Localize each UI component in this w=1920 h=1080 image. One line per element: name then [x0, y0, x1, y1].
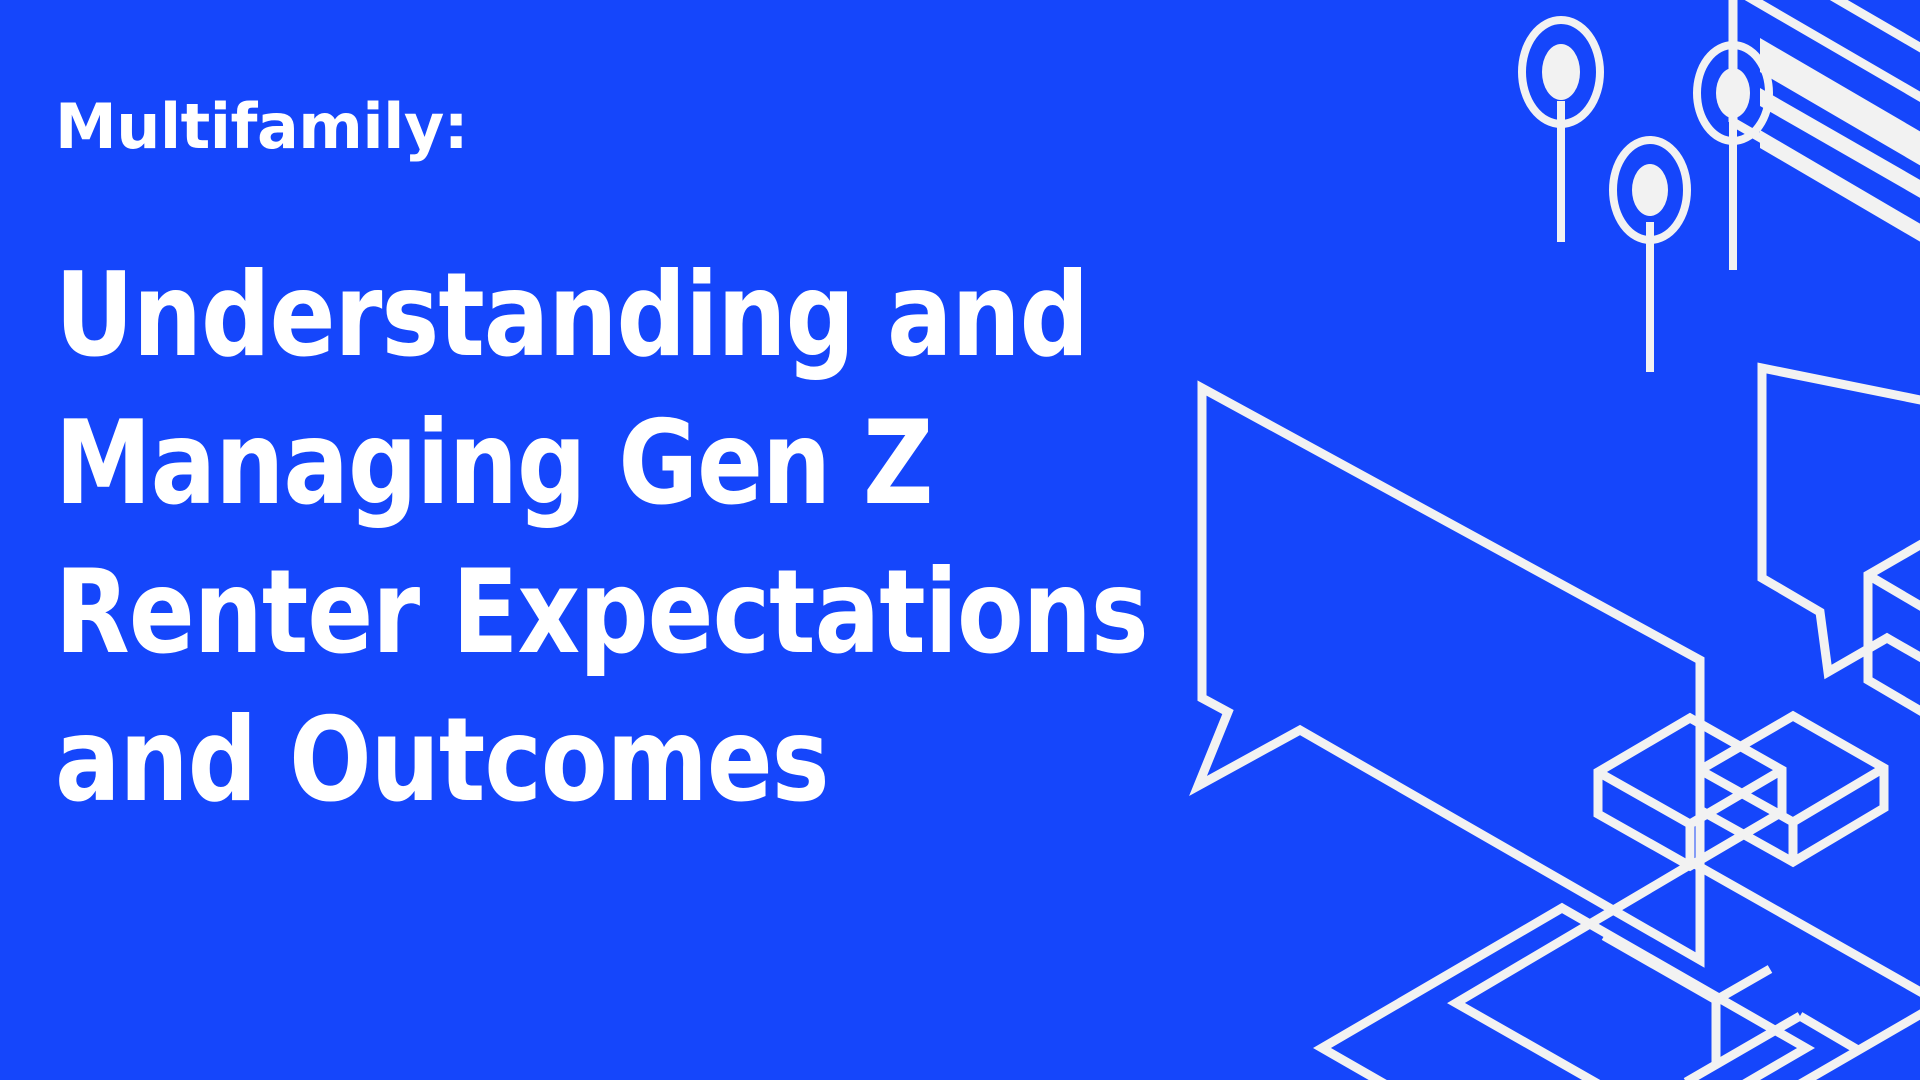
- title-text-block: Multifamily: Understanding and Managing …: [55, 96, 1185, 836]
- document-card-icon: [1733, 0, 1920, 268]
- headline-line-3: Renter Expectations: [55, 539, 1106, 687]
- map-pin-icon-2: [1613, 140, 1687, 372]
- cube-icon-lower: [1598, 718, 1782, 866]
- speech-bubble-icon-front: [1198, 388, 1700, 960]
- eyebrow-text: Multifamily:: [55, 96, 1185, 158]
- headline-line-1: Understanding and: [55, 242, 1106, 390]
- cube-icon-right-clipped: [1868, 523, 1920, 733]
- speech-bubble-icon-back: [1762, 368, 1920, 680]
- title-card: Multifamily: Understanding and Managing …: [0, 0, 1920, 1080]
- map-pin-icon-3: [1697, 45, 1769, 270]
- page-title: Understanding and Managing Gen Z Renter …: [55, 242, 1106, 836]
- speech-bubble-icon-mid: [1645, 342, 1700, 960]
- headline-line-4: and Outcomes: [55, 687, 1106, 835]
- headline-line-2: Managing Gen Z: [55, 390, 1106, 538]
- floor-plan-icon: [1322, 863, 1920, 1080]
- map-pin-icon-1: [1522, 20, 1600, 242]
- cube-icon-upper: [1700, 716, 1884, 862]
